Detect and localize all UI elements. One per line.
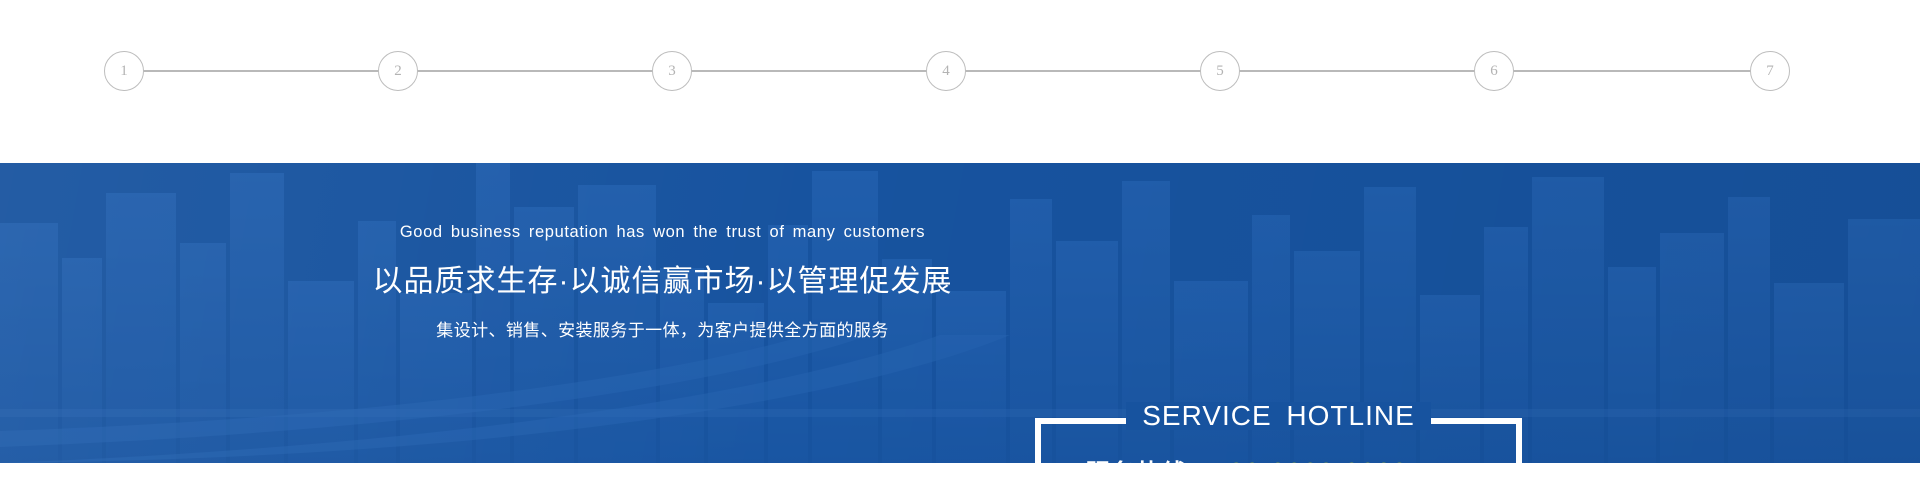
city-skyline-background <box>0 163 1920 463</box>
step-node-label: 6 <box>1490 64 1498 79</box>
step-node-label: 5 <box>1216 64 1224 79</box>
bottom-white-strip <box>0 463 1920 500</box>
step-node-label: 2 <box>394 64 402 79</box>
step-node-label: 3 <box>668 64 676 79</box>
promo-banner: Good business reputation has won the tru… <box>0 163 1920 463</box>
step-node-7[interactable]: 7 <box>1750 51 1790 91</box>
step-node-6[interactable]: 6 <box>1474 51 1514 91</box>
step-node-label: 7 <box>1766 64 1774 79</box>
hotline-row-primary: 服务热线： 183-2660-0068 <box>1085 454 1516 463</box>
step-node-5[interactable]: 5 <box>1200 51 1240 91</box>
step-node-2[interactable]: 2 <box>378 51 418 91</box>
step-node-1[interactable]: 1 <box>104 51 144 91</box>
step-indicator-bar: 1 2 3 4 5 6 7 <box>0 0 1920 163</box>
service-hotline-box: SERVICE HOTLINE 服务热线： 183-2660-0068 0551… <box>1035 418 1522 463</box>
slogan-chinese-subline: 集设计、销售、安装服务于一体，为客户提供全方面的服务 <box>365 316 960 341</box>
step-node-label: 4 <box>942 64 950 79</box>
slogan-block: Good business reputation has won the tru… <box>365 223 960 341</box>
slogan-english-line: Good business reputation has won the tru… <box>365 223 960 242</box>
hotline-rows: 服务热线： 183-2660-0068 0551-63749777 <box>1041 454 1516 463</box>
step-node-4[interactable]: 4 <box>926 51 966 91</box>
step-node-label: 1 <box>120 64 128 79</box>
step-node-3[interactable]: 3 <box>652 51 692 91</box>
hotline-label: 服务热线： <box>1085 454 1213 463</box>
slogan-chinese-headline: 以品质求生存·以诚信赢市场·以管理促发展 <box>365 256 960 300</box>
